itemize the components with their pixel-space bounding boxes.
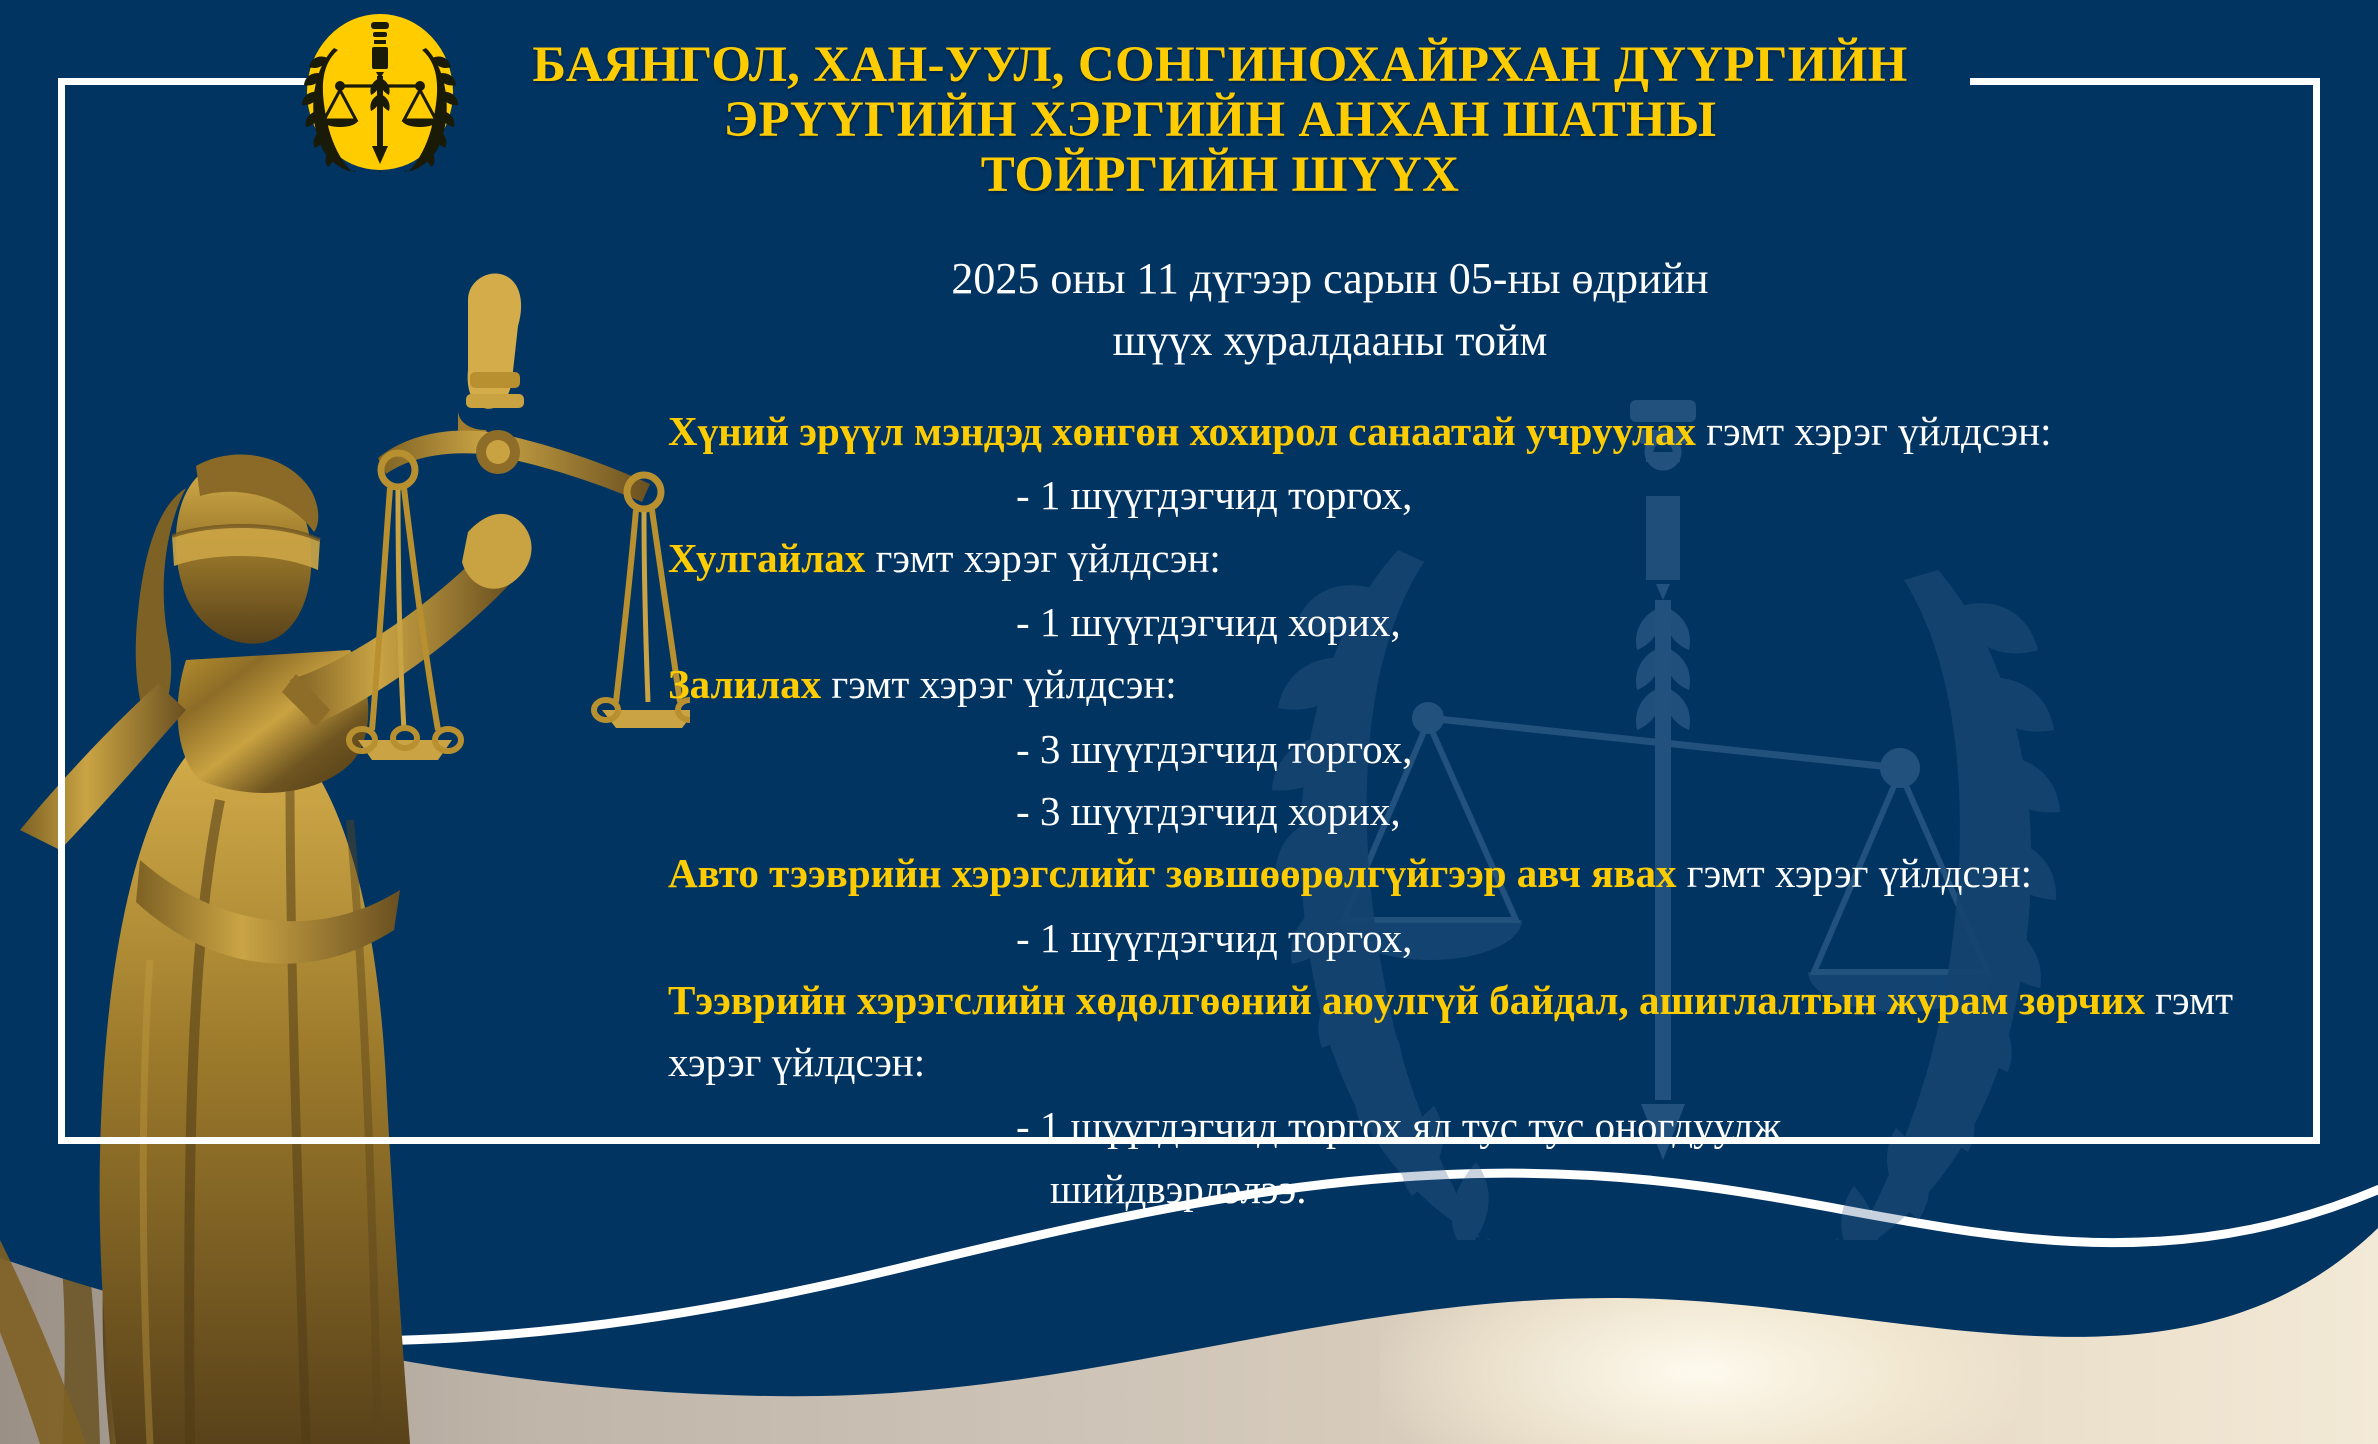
sentence-item: - 3 шүүгдэгчид торгох, [1016,718,2258,780]
offence-name: Залилах [668,661,821,707]
sentence-item: шийдвэрлэлээ. [1050,1158,2258,1220]
court-emblem-icon [300,12,460,172]
title-line-1: БАЯНГОЛ, ХАН-УУЛ, СОНГИНОХАЙРХАН ДҮҮРГИЙ… [470,38,1970,93]
offence-section: Залилах гэмт хэрэг үйлдсэн: [668,653,2258,715]
offence-name: Хулгайлах [668,535,865,581]
subtitle-line-2: шүүх хуралдааны тойм [700,310,1960,372]
offence-section: Тээврийн хэрэгслийн хөдөлгөөний аюулгүй … [668,969,2258,1094]
offence-suffix: гэмт хэрэг үйлдсэн: [865,535,1221,581]
offence-suffix: гэмт хэрэг үйлдсэн: [1677,850,2033,896]
subtitle-date: 2025 оны 11 дүгээр сарын 05-ны өдрийн шү… [700,248,1960,373]
offence-suffix: гэмт хэрэг үйлдсэн: [1696,408,2052,454]
offence-section: Хулгайлах гэмт хэрэг үйлдсэн: [668,527,2258,589]
sentence-item: - 1 шүүгдэгчид торгох ял тус тус оногдуу… [1016,1095,2258,1157]
sentence-item: - 3 шүүгдэгчид хорих, [1016,780,2258,842]
poster-canvas: БАЯНГОЛ, ХАН-УУЛ, СОНГИНОХАЙРХАН ДҮҮРГИЙ… [0,0,2378,1444]
title-line-3: ТОЙРГИЙН ШҮҮХ [470,148,1970,203]
offence-suffix: гэмт хэрэг үйлдсэн: [821,661,1177,707]
summary-body: Хүний эрүүл мэндэд хөнгөн хохирол санаат… [668,400,2258,1220]
offence-section: Хүний эрүүл мэндэд хөнгөн хохирол санаат… [668,400,2258,462]
sentence-item: - 1 шүүгдэгчид хорих, [1016,591,2258,653]
offence-section: Авто тээврийн хэрэгслийг зөвшөөрөлгүйгээ… [668,842,2258,904]
subtitle-line-1: 2025 оны 11 дүгээр сарын 05-ны өдрийн [700,248,1960,310]
page-title: БАЯНГОЛ, ХАН-УУЛ, СОНГИНОХАЙРХАН ДҮҮРГИЙ… [470,38,1970,203]
title-line-2: ЭРҮҮГИЙН ХЭРГИЙН АНХАН ШАТНЫ [470,93,1970,148]
offence-name: Тээврийн хэрэгслийн хөдөлгөөний аюулгүй … [668,977,2145,1023]
sentence-item: - 1 шүүгдэгчид торгох, [1016,907,2258,969]
offence-name: Хүний эрүүл мэндэд хөнгөн хохирол санаат… [668,408,1696,454]
sentence-item: - 1 шүүгдэгчид торгох, [1016,464,2258,526]
offence-name: Авто тээврийн хэрэгслийг зөвшөөрөлгүйгээ… [668,850,1677,896]
